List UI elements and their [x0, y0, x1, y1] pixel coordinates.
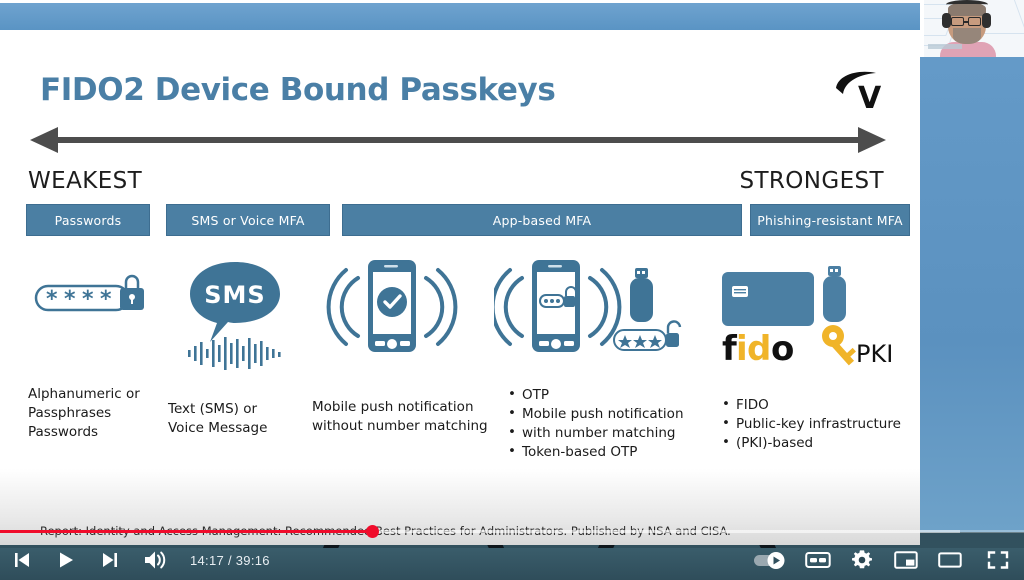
previous-video-button[interactable] — [0, 540, 44, 580]
caption-passwords: Alphanumeric or Passphrases Passwords — [28, 385, 140, 442]
presentation-slide: FIDO2 Device Bound Passkeys V WEAKEST ST… — [0, 0, 920, 545]
svg-text:*: * — [100, 287, 112, 312]
presenter-beard — [953, 28, 981, 44]
slide-header-band — [0, 3, 920, 30]
page-title: FIDO2 Device Bound Passkeys — [40, 72, 555, 108]
bullet-continuation: with number matching — [508, 424, 684, 443]
caption-line: Voice Message — [168, 419, 267, 438]
theater-mode-icon — [938, 550, 962, 570]
gear-icon — [851, 549, 873, 571]
icon-cell-push-no-match — [322, 250, 462, 370]
caption-line: without number matching — [312, 417, 488, 436]
phone-push-check-icon — [322, 250, 462, 370]
next-video-button[interactable] — [88, 540, 132, 580]
autoplay-toggle-icon — [752, 550, 788, 570]
svg-text:V: V — [858, 81, 882, 112]
caption-line: Passphrases — [28, 404, 140, 423]
play-icon — [56, 550, 76, 570]
bullet-item: Public-key infrastructure — [722, 415, 901, 434]
volume-icon — [143, 549, 167, 571]
closed-captions-icon — [805, 550, 831, 570]
progress-played — [0, 530, 373, 533]
subtitles-button[interactable] — [796, 540, 840, 580]
presenter-headset-earcup-right — [982, 13, 991, 28]
bullet-continuation: (PKI)-based — [722, 434, 901, 453]
bullet-item: Token-based OTP — [508, 443, 684, 462]
presenter-headset-band — [946, 0, 988, 9]
progress-scrubber-handle[interactable] — [366, 525, 379, 538]
svg-text:o: o — [771, 329, 794, 369]
presenter-headset-earcup-left — [942, 13, 951, 28]
side-blue-panel — [920, 57, 1024, 532]
caption-line: Passwords — [28, 423, 140, 442]
miniplayer-icon — [894, 550, 918, 570]
play-button[interactable] — [44, 540, 88, 580]
svg-text:PKI: PKI — [856, 340, 893, 368]
next-icon — [100, 550, 120, 570]
caption-line: Alphanumeric or — [28, 385, 140, 404]
tier-sms-voice-mfa: SMS or Voice MFA — [166, 204, 330, 236]
tier-app-based-mfa: App-based MFA — [342, 204, 742, 236]
caption-number-match: OTP Mobile push notification with number… — [508, 386, 684, 462]
brand-logo-icon: V — [832, 68, 894, 112]
caption-phishing-resistant: FIDO Public-key infrastructure (PKI)-bas… — [722, 396, 901, 453]
icon-cell-phishing-resistant: f i d o PKI — [716, 250, 906, 370]
svg-text:*: * — [64, 287, 76, 312]
fullscreen-icon — [987, 550, 1009, 570]
presenter-glasses-right — [968, 17, 981, 26]
bullet-item: FIDO — [722, 396, 901, 415]
tier-passwords: Passwords — [26, 204, 150, 236]
bullet-item: Mobile push notification — [508, 405, 684, 424]
weak-to-strong-arrow-icon — [28, 126, 888, 154]
mfa-tier-bar-group: Passwords SMS or Voice MFA App-based MFA… — [26, 204, 886, 236]
previous-icon — [12, 550, 32, 570]
icon-cell-passwords: ** ** — [22, 250, 162, 370]
theater-button[interactable] — [928, 540, 972, 580]
volume-button[interactable] — [132, 540, 178, 580]
settings-button[interactable] — [840, 540, 884, 580]
tier-phishing-resistant-mfa: Phishing-resistant MFA — [750, 204, 910, 236]
fullscreen-button[interactable] — [972, 540, 1024, 580]
icon-cell-sms: SMS — [170, 250, 300, 370]
webcam-watermark — [928, 44, 962, 49]
sms-bubble-voice-waveform-icon: SMS — [170, 250, 300, 370]
caption-line: Text (SMS) or — [168, 400, 267, 419]
presenter-glasses-left — [951, 17, 964, 26]
player-controls: 14:17 / 39:16 — [0, 540, 1024, 580]
autoplay-toggle[interactable] — [744, 540, 796, 580]
caption-sms: Text (SMS) or Voice Message — [168, 400, 267, 438]
presenter-glasses-bridge — [964, 21, 968, 23]
password-field-lock-icon: ** ** — [22, 250, 162, 370]
svg-text:*: * — [46, 287, 58, 312]
svg-text:d: d — [747, 329, 771, 369]
icon-row: ** ** SMS — [0, 250, 920, 370]
video-player: FIDO2 Device Bound Passkeys V WEAKEST ST… — [0, 0, 1024, 580]
caption-line: Mobile push notification — [312, 398, 488, 417]
icon-cell-number-match — [494, 250, 694, 370]
time-display: 14:17 / 39:16 — [190, 553, 270, 568]
svg-text:SMS: SMS — [204, 281, 265, 309]
presenter-webcam-inset — [924, 0, 1024, 57]
phone-number-match-usb-token-icon — [494, 250, 694, 370]
smartcard-usb-fido-pki-icon: f i d o PKI — [716, 250, 906, 370]
bullet-item: OTP — [508, 386, 684, 405]
video-viewport[interactable]: FIDO2 Device Bound Passkeys V WEAKEST ST… — [0, 0, 1024, 580]
scale-strongest-label: STRONGEST — [739, 168, 884, 194]
scale-weakest-label: WEAKEST — [28, 168, 142, 194]
progress-bar[interactable] — [0, 527, 1024, 535]
miniplayer-button[interactable] — [884, 540, 928, 580]
svg-text:i: i — [736, 329, 748, 369]
caption-push-no-match: Mobile push notification without number … — [312, 398, 488, 436]
svg-text:*: * — [82, 287, 94, 312]
